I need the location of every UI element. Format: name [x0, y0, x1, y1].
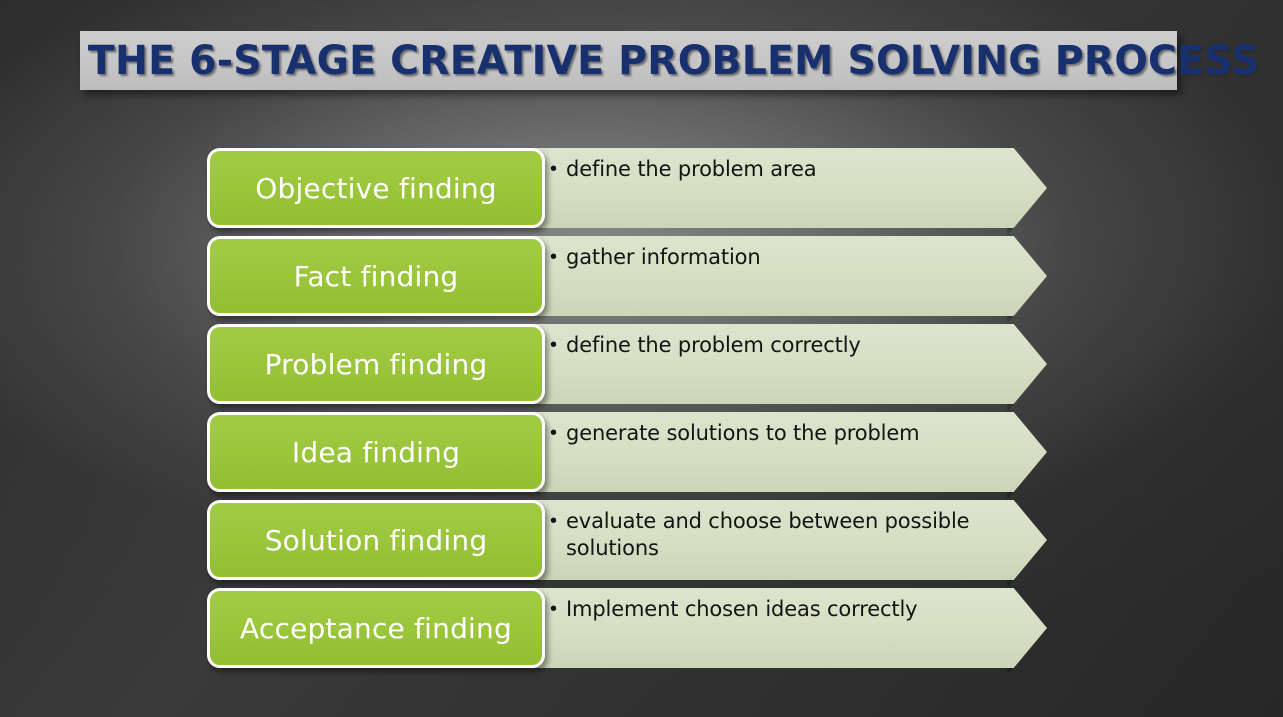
page-title: THE 6-STAGE CREATIVE PROBLEM SOLVING PRO…: [80, 38, 1260, 84]
stage-description-label: define the problem area: [566, 156, 816, 183]
bullet-icon: •: [550, 332, 557, 359]
stage-name-label: Idea finding: [292, 436, 460, 469]
stage-description-arrow: •define the problem area: [528, 148, 1047, 228]
stage-box-3[interactable]: Problem finding: [207, 324, 545, 404]
stage-box-2[interactable]: Fact finding: [207, 236, 545, 316]
stage-description-bullet: •gather information: [550, 244, 1005, 271]
process-stage-row[interactable]: •define the problem areaObjective findin…: [0, 148, 1283, 236]
stage-description-label: gather information: [566, 244, 760, 271]
stage-description-bullet: •Implement chosen ideas correctly: [550, 596, 1005, 623]
stage-name-label: Problem finding: [265, 348, 488, 381]
stage-description-arrow: •Implement chosen ideas correctly: [528, 588, 1047, 668]
process-stage-list: •define the problem areaObjective findin…: [0, 148, 1283, 676]
stage-name-label: Acceptance finding: [240, 612, 512, 645]
stage-description-bullet: •define the problem correctly: [550, 332, 1005, 359]
stage-name-label: Objective finding: [255, 172, 497, 205]
bullet-icon: •: [550, 508, 557, 535]
stage-description-label: evaluate and choose between possible sol…: [566, 508, 1005, 562]
stage-description-bullet: •evaluate and choose between possible so…: [550, 508, 1005, 562]
stage-description-arrow: •generate solutions to the problem: [528, 412, 1047, 492]
stage-description-arrow: •evaluate and choose between possible so…: [528, 500, 1047, 580]
stage-description-label: generate solutions to the problem: [566, 420, 919, 447]
process-stage-row[interactable]: •define the problem correctlyProblem fin…: [0, 324, 1283, 412]
stage-description-arrow: •define the problem correctly: [528, 324, 1047, 404]
bullet-icon: •: [550, 244, 557, 271]
stage-description-label: define the problem correctly: [566, 332, 861, 359]
stage-name-label: Fact finding: [294, 260, 459, 293]
stage-box-5[interactable]: Solution finding: [207, 500, 545, 580]
stage-description-arrow: •gather information: [528, 236, 1047, 316]
process-stage-row[interactable]: •gather informationFact finding: [0, 236, 1283, 324]
process-stage-row[interactable]: •evaluate and choose between possible so…: [0, 500, 1283, 588]
process-stage-row[interactable]: •generate solutions to the problemIdea f…: [0, 412, 1283, 500]
stage-box-4[interactable]: Idea finding: [207, 412, 545, 492]
slide-title-bar: THE 6-STAGE CREATIVE PROBLEM SOLVING PRO…: [80, 31, 1177, 90]
bullet-icon: •: [550, 420, 557, 447]
stage-name-label: Solution finding: [265, 524, 488, 557]
bullet-icon: •: [550, 596, 557, 623]
stage-description-label: Implement chosen ideas correctly: [566, 596, 917, 623]
stage-description-bullet: •generate solutions to the problem: [550, 420, 1005, 447]
stage-description-bullet: •define the problem area: [550, 156, 1005, 183]
bullet-icon: •: [550, 156, 557, 183]
stage-box-1[interactable]: Objective finding: [207, 148, 545, 228]
process-stage-row[interactable]: •Implement chosen ideas correctlyAccepta…: [0, 588, 1283, 676]
stage-box-6[interactable]: Acceptance finding: [207, 588, 545, 668]
